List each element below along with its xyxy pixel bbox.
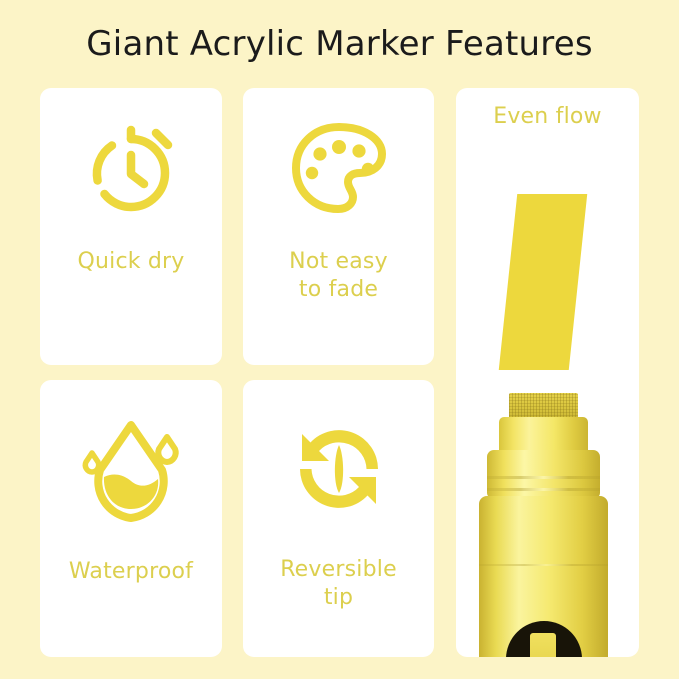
feature-card-quick-dry: Quick dry: [40, 88, 222, 365]
infographic-page: Giant Acrylic Marker Features Quick dry: [0, 0, 679, 679]
reverse-arrows-icon: [243, 406, 434, 531]
feature-label-line-1: Not easy: [289, 249, 388, 274]
feature-label-waterproof: Waterproof: [40, 558, 222, 586]
marker-collar-ring: [487, 476, 600, 479]
marker-cap-notch: [530, 633, 556, 657]
feature-label-line-1: Reversible: [280, 557, 397, 582]
paint-palette-icon: [243, 110, 434, 230]
feature-label-line-2: to fade: [299, 277, 378, 302]
feature-label-quick-dry: Quick dry: [40, 248, 222, 276]
stopwatch-icon: [40, 110, 222, 230]
feature-label-not-easy-to-fade: Not easy to fade: [243, 248, 434, 304]
page-title: Giant Acrylic Marker Features: [0, 24, 679, 64]
feature-label-reversible-tip: Reversible tip: [243, 556, 434, 612]
feature-label-line-2: tip: [324, 585, 353, 610]
feature-card-reversible-tip: Reversible tip: [243, 380, 434, 657]
marker-neck: [499, 417, 588, 453]
marker-barrel-seam: [479, 564, 608, 566]
marker-product-photo: [456, 378, 639, 657]
marker-stroke-swatch: [499, 194, 587, 370]
even-flow-panel: Even flow: [456, 88, 639, 657]
feature-card-waterproof: Waterproof: [40, 380, 222, 657]
even-flow-label: Even flow: [456, 104, 639, 129]
water-drop-icon: [40, 406, 222, 531]
marker-collar-ring: [487, 488, 600, 491]
feature-card-not-easy-to-fade: Not easy to fade: [243, 88, 434, 365]
marker-chisel-nib: [509, 393, 578, 419]
